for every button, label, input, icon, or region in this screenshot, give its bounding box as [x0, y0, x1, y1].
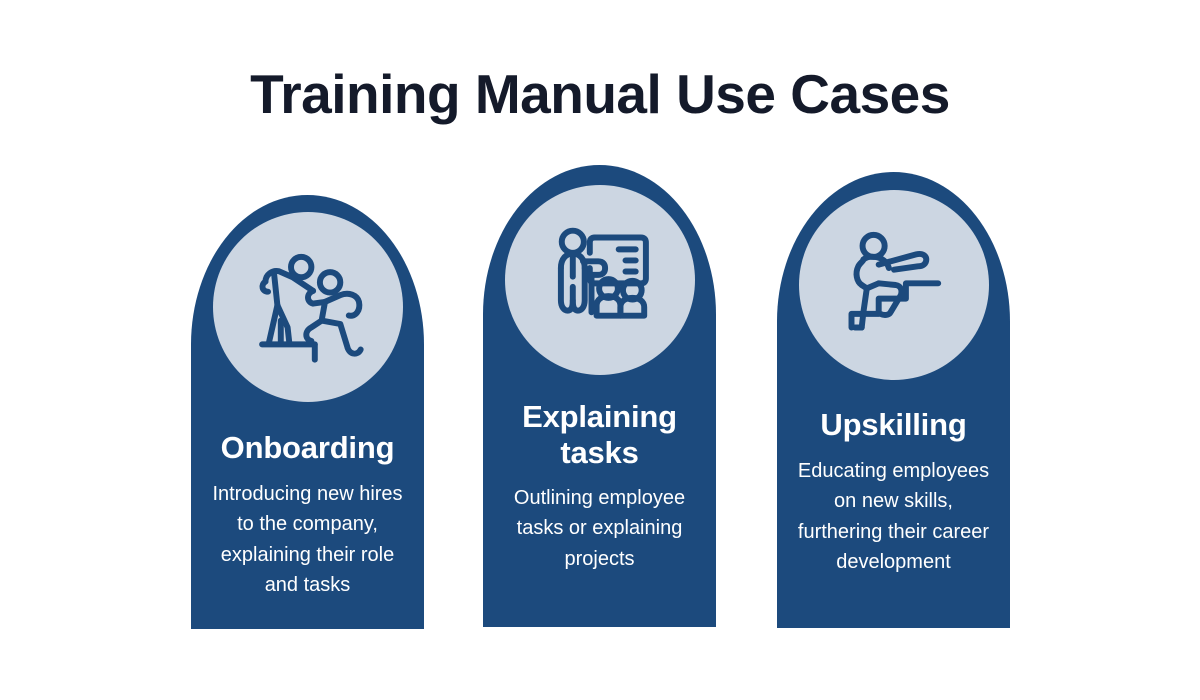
use-case-card-onboarding[interactable]: Onboarding Introducing new hires to the …: [191, 195, 424, 629]
card-heading: Onboarding: [200, 430, 415, 466]
person-climbing-stairs-icon: [826, 217, 962, 353]
card-body-text: Outlining employee tasks or explaining p…: [501, 483, 699, 574]
two-people-helping-up-icon: [240, 239, 376, 375]
card-body-text: Introducing new hires to the company, ex…: [209, 479, 407, 601]
icon-badge-explaining-tasks: [505, 185, 695, 375]
card-heading: Explaining tasks: [492, 399, 707, 471]
slide-canvas: Training Manual Use Cases: [0, 0, 1200, 700]
presenter-whiteboard-audience-icon: [532, 212, 668, 348]
use-case-card-row: Onboarding Introducing new hires to the …: [0, 0, 1200, 700]
icon-badge-onboarding: [213, 212, 403, 402]
use-case-card-explaining-tasks[interactable]: Explaining tasks Outlining employee task…: [483, 165, 716, 627]
card-body-text: Educating employees on new skills, furth…: [795, 456, 993, 578]
card-heading: Upskilling: [786, 407, 1001, 443]
icon-badge-upskilling: [799, 190, 989, 380]
use-case-card-upskilling[interactable]: Upskilling Educating employees on new sk…: [777, 172, 1010, 628]
